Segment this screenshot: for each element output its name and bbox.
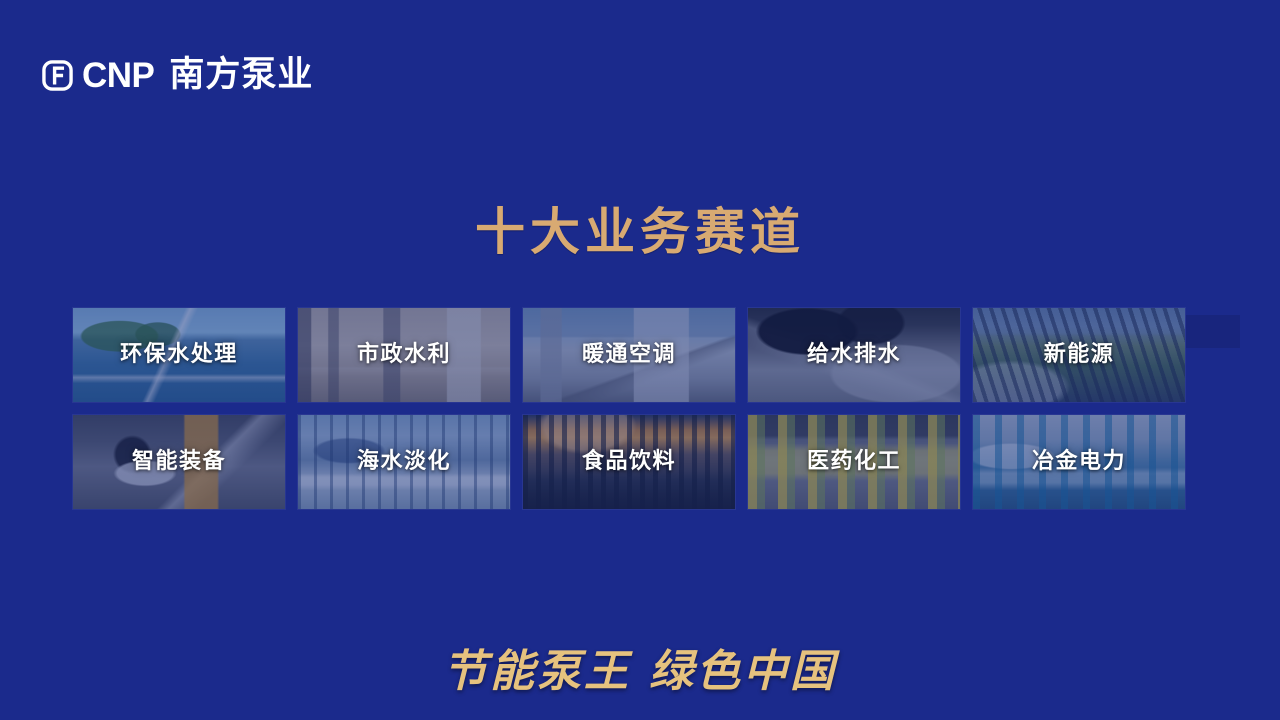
brand-latin-name: CNP — [82, 58, 154, 93]
business-card-label: 环保水处理 — [120, 344, 238, 366]
brand-logo: CNP 南方泵业 — [42, 53, 313, 97]
business-card-9[interactable]: 医药化工 — [748, 415, 960, 509]
business-card-3[interactable]: 暖通空调 — [523, 308, 735, 402]
business-card-10[interactable]: 冶金电力 — [973, 415, 1185, 509]
business-card-label: 冶金电力 — [1032, 451, 1126, 473]
brand-chinese-name: 南方泵业 — [169, 58, 313, 93]
business-card-label: 给水排水 — [807, 344, 901, 366]
footer-slogan: 节能泵王绿色中国 — [0, 650, 1280, 694]
business-card-7[interactable]: 海水淡化 — [298, 415, 510, 509]
slogan-left-text: 节能泵王 — [443, 646, 631, 697]
business-card-4[interactable]: 给水排水 — [748, 308, 960, 402]
business-card-6[interactable]: 智能装备 — [73, 415, 285, 509]
business-card-5[interactable]: 新能源 — [973, 308, 1185, 402]
business-card-label: 市政水利 — [357, 344, 451, 366]
business-track-grid: 环保水处理 市政水利 暖通空调 给水排水 新能源 智能装备 — [73, 308, 1185, 509]
presentation-slide: CNP 南方泵业 十大业务赛道 环保水处理 市政水利 暖通空调 给水排水 — [0, 0, 1280, 720]
page-title: 十大业务赛道 — [0, 204, 1280, 260]
business-card-label: 新能源 — [1044, 344, 1115, 366]
cnp-emblem-icon — [42, 60, 73, 91]
slogan-right-text: 绿色中国 — [649, 646, 837, 697]
business-card-label: 海水淡化 — [357, 451, 451, 473]
business-card-label: 智能装备 — [132, 451, 226, 473]
business-card-label: 医药化工 — [807, 451, 901, 473]
decorative-block — [1186, 315, 1240, 348]
business-card-label: 食品饮料 — [582, 451, 676, 473]
business-card-8[interactable]: 食品饮料 — [523, 415, 735, 509]
business-card-label: 暖通空调 — [582, 344, 676, 366]
business-card-2[interactable]: 市政水利 — [298, 308, 510, 402]
business-card-1[interactable]: 环保水处理 — [73, 308, 285, 402]
